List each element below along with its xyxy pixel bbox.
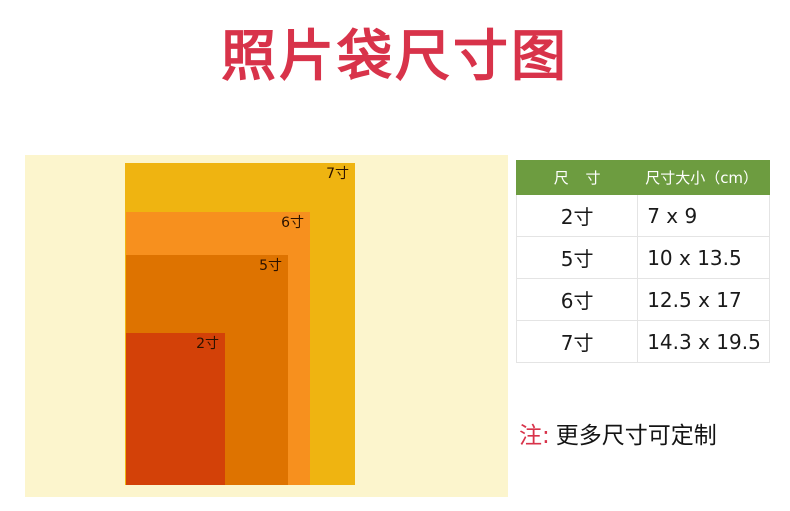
table-body: 2寸 7 x 9 5寸 10 x 13.5 6寸 12.5 x 17 7寸 14… <box>517 195 770 363</box>
table-cell-size: 5寸 <box>517 237 638 279</box>
table-row: 6寸 12.5 x 17 <box>517 279 770 321</box>
table-header: 尺 寸 尺寸大小（cm） <box>517 161 770 195</box>
size-rect-2cun: 2寸 <box>126 333 225 485</box>
size-rect-label-2cun: 2寸 <box>196 337 219 351</box>
page-title: 照片袋尺寸图 <box>0 26 790 87</box>
size-rect-label-7cun: 7寸 <box>326 167 349 181</box>
note: 注:更多尺寸可定制 <box>519 425 717 448</box>
table-header-row: 尺 寸 尺寸大小（cm） <box>517 161 770 195</box>
size-reference-table: 尺 寸 尺寸大小（cm） 2寸 7 x 9 5寸 10 x 13.5 6寸 12… <box>516 160 770 363</box>
table-cell-dimension: 10 x 13.5 <box>638 237 770 279</box>
table-header-dimension: 尺寸大小（cm） <box>638 161 770 195</box>
table-cell-dimension: 7 x 9 <box>638 195 770 237</box>
table-row: 7寸 14.3 x 19.5 <box>517 321 770 363</box>
table-cell-size: 6寸 <box>517 279 638 321</box>
note-prefix: 注: <box>519 423 550 449</box>
note-text: 更多尺寸可定制 <box>556 423 717 449</box>
table-cell-dimension: 14.3 x 19.5 <box>638 321 770 363</box>
size-rect-label-6cun: 6寸 <box>281 216 304 230</box>
table-cell-size: 7寸 <box>517 321 638 363</box>
size-diagram-panel: 7寸 6寸 5寸 2寸 <box>25 155 508 497</box>
table-cell-dimension: 12.5 x 17 <box>638 279 770 321</box>
size-rect-label-5cun: 5寸 <box>259 259 282 273</box>
table-row: 5寸 10 x 13.5 <box>517 237 770 279</box>
table-cell-size: 2寸 <box>517 195 638 237</box>
table-row: 2寸 7 x 9 <box>517 195 770 237</box>
table-header-size: 尺 寸 <box>517 161 638 195</box>
